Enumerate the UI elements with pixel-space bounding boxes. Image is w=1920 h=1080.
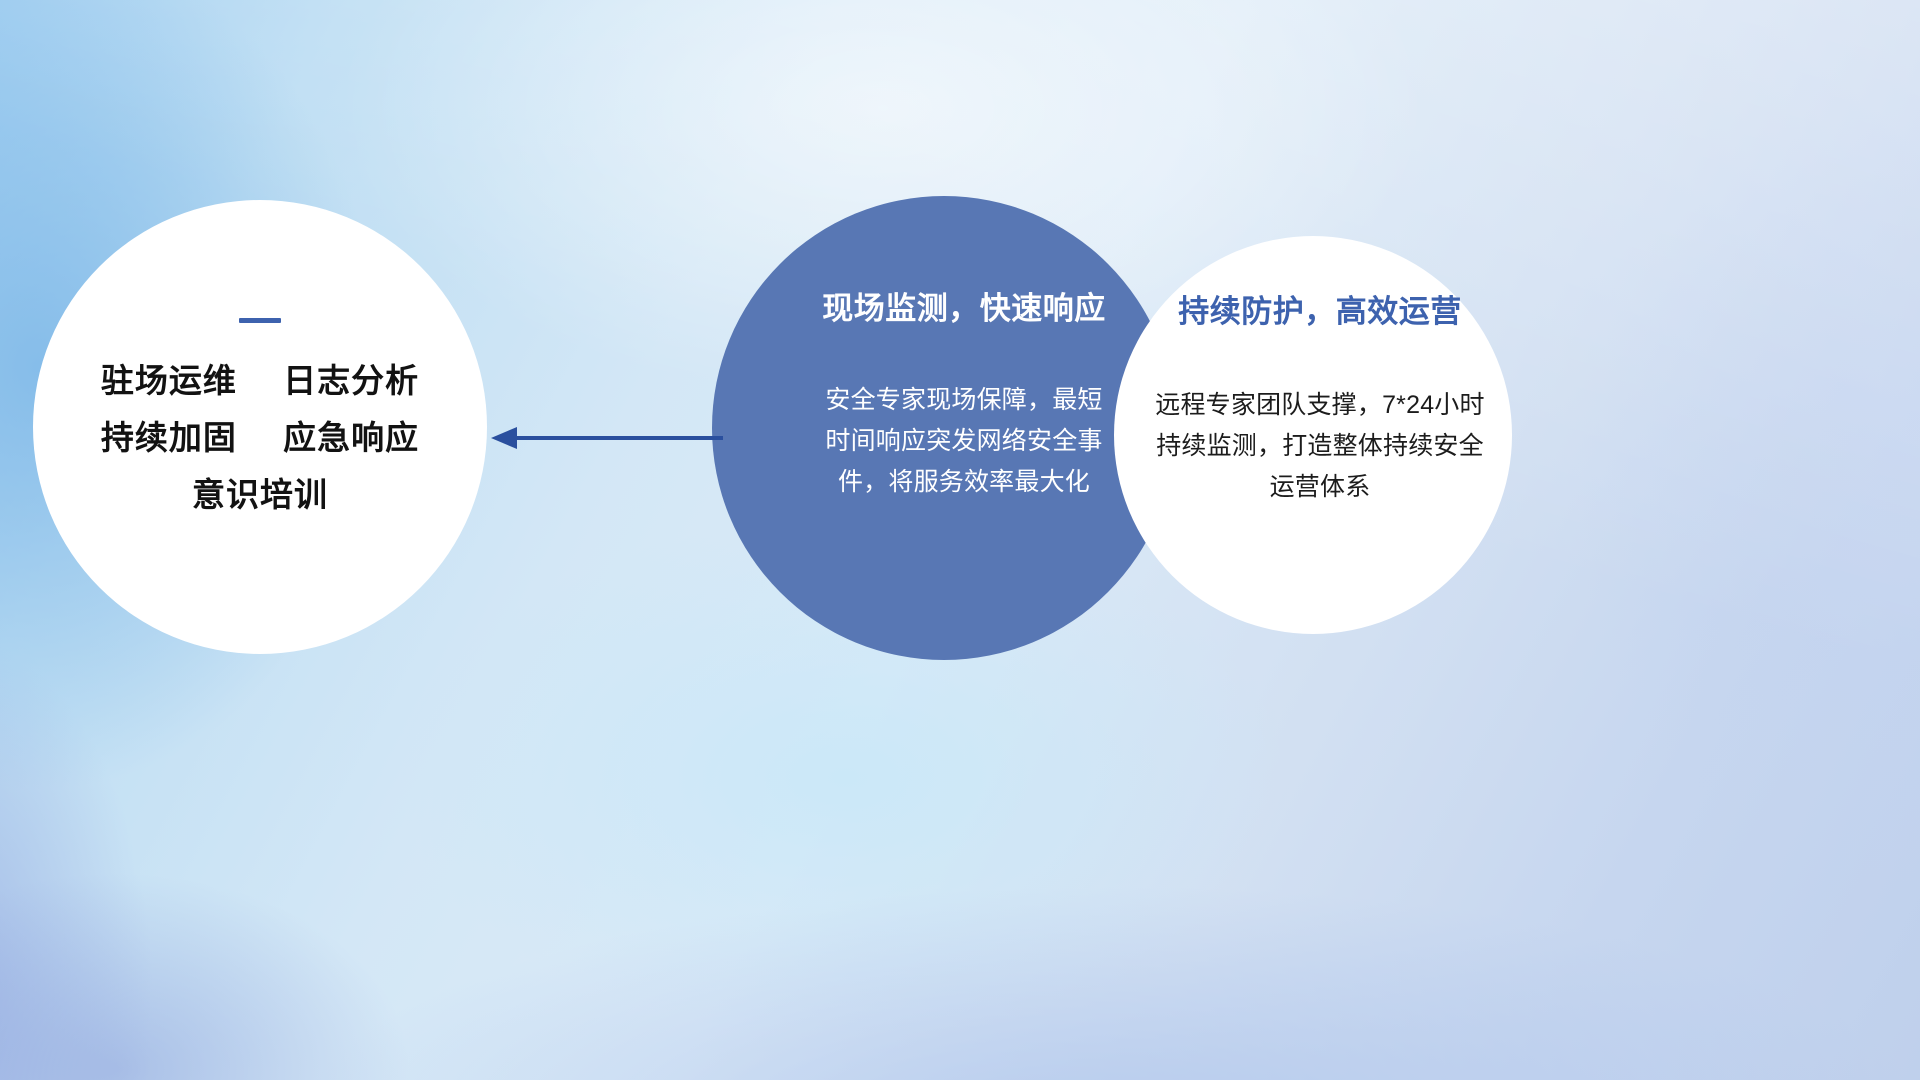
capability-tag-list: 驻场运维 日志分析 持续加固 应急响应 意识培训 [101, 362, 419, 515]
capability-tag: 驻场运维 [101, 362, 237, 399]
capability-tag: 持续加固 [101, 419, 237, 456]
capability-tag: 意识培训 [192, 476, 328, 513]
arrow-left-icon [487, 418, 727, 458]
capability-tag-row: 意识培训 [192, 476, 328, 515]
accent-divider-dash [239, 318, 281, 323]
slide-canvas: 驻场运维 日志分析 持续加固 应急响应 意识培训 现场监测，快速响应 安全专家现… [0, 0, 1920, 1080]
middle-circle-content: 现场监测，快速响应 安全专家现场保障，最短时间响应突发网络安全事件，将服务效率最… [712, 196, 1176, 660]
capability-tag-row: 驻场运维 日志分析 [101, 362, 419, 401]
capability-tag: 应急响应 [283, 419, 419, 456]
middle-circle-title: 现场监测，快速响应 [822, 290, 1106, 327]
capability-tag-row: 持续加固 应急响应 [101, 419, 419, 458]
left-circle-content: 驻场运维 日志分析 持续加固 应急响应 意识培训 [33, 200, 487, 654]
right-circle-title: 持续防护，高效运营 [1178, 293, 1462, 330]
right-circle-body: 远程专家团队支撑，7*24小时持续监测，打造整体持续安全运营体系 [1144, 385, 1496, 508]
capability-tag: 日志分析 [283, 362, 419, 399]
flow-arrow-left [487, 418, 727, 458]
right-circle-content: 持续防护，高效运营 远程专家团队支撑，7*24小时持续监测，打造整体持续安全运营… [1114, 236, 1512, 634]
middle-circle-body: 安全专家现场保障，最短时间响应突发网络安全事件，将服务效率最大化 [814, 380, 1114, 503]
